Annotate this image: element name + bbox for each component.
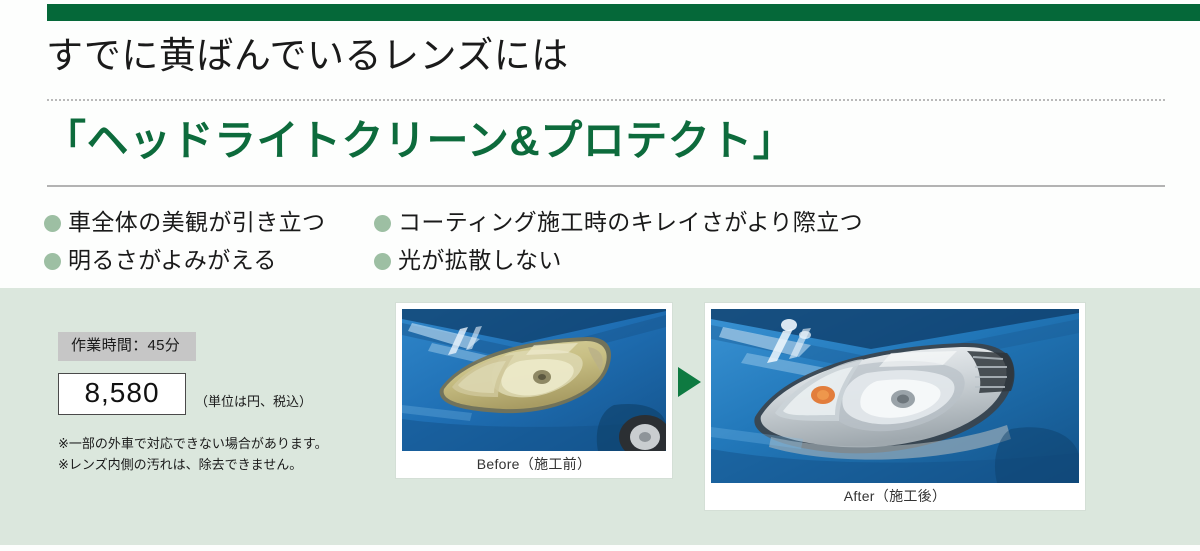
product-title: 「ヘッドライトクリーン&プロテクト」 <box>44 114 795 168</box>
before-headlight-image <box>402 309 666 451</box>
price-block: 作業時間：45分 8,580 （単位は円、税込） ※一部の外車で対応できない場合… <box>58 332 348 475</box>
benefit-label: 光が拡散しない <box>398 245 562 276</box>
benefit-item-4: 光が拡散しない <box>374 245 562 276</box>
work-time-badge: 作業時間：45分 <box>58 332 196 361</box>
benefit-row: 車全体の美観が引き立つ コーティング施工時のキレイさがより際立つ <box>44 207 1154 238</box>
benefit-item-2: コーティング施工時のキレイさがより際立つ <box>374 207 863 238</box>
note-line: ※一部の外車で対応できない場合があります。 <box>58 433 348 454</box>
price-value: 8,580 <box>84 377 159 408</box>
price-unit-note: （単位は円、税込） <box>195 394 312 410</box>
price-row: 8,580 （単位は円、税込） <box>58 373 348 415</box>
after-caption: After（施工後） <box>705 483 1085 510</box>
benefit-item-1: 車全体の美観が引き立つ <box>44 207 374 238</box>
bullet-dot-icon <box>374 253 391 270</box>
page-headline: すでに黄ばんでいるレンズには <box>46 33 569 79</box>
benefit-list: 車全体の美観が引き立つ コーティング施工時のキレイさがより際立つ 明るさがよみが… <box>44 207 1154 283</box>
promo-page: すでに黄ばんでいるレンズには 「ヘッドライトクリーン&プロテクト」 車全体の美観… <box>0 0 1200 551</box>
arrow-right-icon <box>678 367 701 397</box>
divider-dotted <box>47 99 1165 101</box>
bullet-dot-icon <box>44 215 61 232</box>
after-photo-card: After（施工後） <box>705 303 1085 510</box>
benefit-label: 車全体の美観が引き立つ <box>68 207 325 238</box>
before-photo-card: Before（施工前） <box>396 303 672 478</box>
before-caption: Before（施工前） <box>396 451 672 478</box>
disclaimer-notes: ※一部の外車で対応できない場合があります。 ※レンズ内側の汚れは、除去できません… <box>58 433 348 475</box>
benefit-label: コーティング施工時のキレイさがより際立つ <box>398 207 863 238</box>
before-photo <box>402 309 666 451</box>
price-box: 8,580 <box>58 373 186 415</box>
divider-solid <box>47 185 1165 187</box>
benefit-row: 明るさがよみがえる 光が拡散しない <box>44 245 1154 276</box>
benefit-item-3: 明るさがよみがえる <box>44 245 374 276</box>
after-photo <box>711 309 1079 483</box>
top-green-bar <box>47 4 1200 21</box>
note-line: ※レンズ内側の汚れは、除去できません。 <box>58 454 348 475</box>
bullet-dot-icon <box>374 215 391 232</box>
after-headlight-image <box>711 309 1079 483</box>
benefit-label: 明るさがよみがえる <box>68 245 277 276</box>
bullet-dot-icon <box>44 253 61 270</box>
